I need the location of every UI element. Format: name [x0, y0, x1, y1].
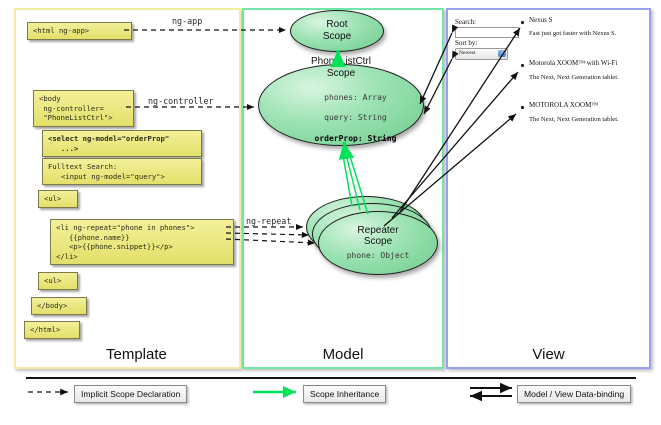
diagram-canvas: Template Model View <html ng-app> <body …: [0, 0, 661, 425]
label-ng-app: ng-app: [172, 16, 202, 26]
scope-phonelistctrl-title: PhoneListCtrl Scope: [311, 56, 371, 80]
legend-implicit-scope-declaration: Implicit Scope Declaration: [74, 385, 187, 403]
panel-model-label: Model: [244, 346, 442, 363]
legend-model-view-data-binding: Model / View Data-binding: [517, 385, 631, 403]
list-bullet: [521, 21, 524, 24]
view-sort-label: Sort by:: [455, 39, 477, 47]
code-select-orderprop-tag: <select ng-model="orderProp" ...>: [42, 130, 202, 157]
code-html-close-tag: </html>: [24, 321, 80, 339]
scope-phonelistctrl-props: phones: Array query: String orderProp: S…: [286, 82, 397, 154]
view-search-label: Search:: [455, 18, 476, 26]
chevron-updown-icon[interactable]: ↕: [498, 50, 506, 57]
label-ng-repeat: ng-repeat: [246, 216, 291, 226]
code-html-tag: <html ng-app>: [27, 22, 132, 40]
view-phone-name: MOTOROLA XOOM™: [529, 101, 598, 109]
legend-divider: [26, 377, 636, 379]
view-phone-name: Nexus S: [529, 16, 553, 24]
code-body-close-tag: </body>: [31, 297, 87, 315]
view-search-input[interactable]: [455, 27, 519, 38]
view-sort-select[interactable]: Newest ↕: [455, 48, 508, 60]
scope-repeater: Repeater Scope phone: Object: [318, 211, 438, 275]
scope-phonelistctrl: PhoneListCtrl Scope phones: Array query:…: [258, 64, 424, 146]
panel-view-label: View: [448, 346, 649, 363]
list-bullet: [521, 106, 524, 109]
list-bullet: [521, 64, 524, 67]
code-ul-open-tag: <ul>: [38, 190, 78, 208]
view-phone-snippet: Fast just got faster with Nexus S.: [529, 30, 616, 37]
legend-scope-inheritance: Scope Inheritance: [303, 385, 386, 403]
code-li-ng-repeat-tag: <li ng-repeat="phone in phones"> {{phone…: [50, 219, 234, 265]
scope-root: Root Scope: [290, 10, 384, 52]
scope-repeater-title: Repeater Scope: [357, 225, 398, 249]
code-body-controller-tag: <body ng-controller= "PhoneListCtrl">: [33, 90, 134, 127]
view-sort-value: Newest: [459, 50, 476, 56]
view-phone-name: Motorola XOOM™ with Wi-Fi: [529, 59, 617, 67]
view-phone-snippet: The Next, Next Generation tablet.: [529, 116, 619, 123]
scope-repeater-props: phone: Object: [347, 251, 410, 261]
scope-root-title: Root Scope: [323, 19, 351, 43]
label-ng-controller: ng-controller: [148, 96, 214, 106]
code-fulltext-search-input: Fulltext Search: <input ng-model="query"…: [42, 158, 202, 185]
panel-template: Template: [14, 8, 241, 369]
code-ul-close-tag: <ul>: [38, 272, 78, 290]
view-phone-snippet: The Next, Next Generation tablet.: [529, 74, 619, 81]
